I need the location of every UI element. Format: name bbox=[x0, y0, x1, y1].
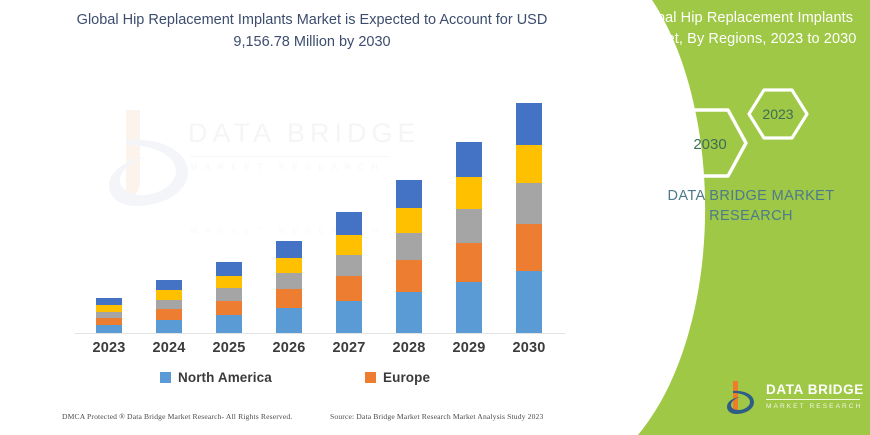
x-axis-line bbox=[75, 333, 565, 334]
bar-segment-2026-2 bbox=[276, 289, 302, 308]
bar-segment-2023-1 bbox=[96, 325, 122, 333]
hexagon-2030-label: 2030 bbox=[693, 136, 726, 153]
x-axis-label-2027: 2027 bbox=[319, 340, 379, 356]
x-axis-label-2028: 2028 bbox=[379, 340, 439, 356]
legend-label: North America bbox=[178, 370, 272, 385]
x-axis-label-2026: 2026 bbox=[259, 340, 319, 356]
logo-divider bbox=[766, 399, 860, 400]
bar-segment-2030-5 bbox=[516, 103, 542, 145]
data-bridge-logo: DATA BRIDGE MARKET RESEARCH bbox=[722, 378, 862, 420]
bar-segment-2029-2 bbox=[456, 243, 482, 283]
infographic-page: Global Hip Replacement Implants Market, … bbox=[0, 0, 870, 435]
bar-segment-2028-4 bbox=[396, 208, 422, 233]
right-panel-title: Global Hip Replacement Implants Market, … bbox=[634, 8, 864, 50]
bar-segment-2025-3 bbox=[216, 288, 242, 301]
bar-segment-2025-5 bbox=[216, 262, 242, 275]
bar-segment-2027-1 bbox=[336, 301, 362, 333]
bar-2027 bbox=[336, 212, 362, 333]
bar-segment-2025-4 bbox=[216, 276, 242, 288]
bar-segment-2026-4 bbox=[276, 258, 302, 273]
bar-segment-2025-2 bbox=[216, 301, 242, 315]
footnote-source: Source: Data Bridge Market Research Mark… bbox=[330, 412, 543, 421]
bar-2029 bbox=[456, 142, 482, 333]
bar-segment-2029-3 bbox=[456, 209, 482, 243]
hexagon-2023-label: 2023 bbox=[762, 106, 793, 122]
legend-item-europe[interactable]: Europe bbox=[365, 370, 430, 385]
legend-swatch-icon bbox=[365, 372, 376, 383]
hexagon-badges: 2023 2030 bbox=[660, 84, 830, 180]
bar-segment-2024-1 bbox=[156, 320, 182, 333]
legend-label: Europe bbox=[383, 370, 430, 385]
data-bridge-logo-mark bbox=[722, 378, 762, 418]
bar-segment-2030-1 bbox=[516, 271, 542, 333]
x-axis-label-2024: 2024 bbox=[139, 340, 199, 356]
bar-segment-2024-5 bbox=[156, 280, 182, 290]
bar-segment-2030-4 bbox=[516, 145, 542, 183]
bar-segment-2028-2 bbox=[396, 260, 422, 292]
data-bridge-logo-text: DATA BRIDGE MARKET RESEARCH bbox=[766, 382, 862, 411]
bar-segment-2029-5 bbox=[456, 142, 482, 177]
bar-2026 bbox=[276, 241, 302, 333]
bar-segment-2025-1 bbox=[216, 315, 242, 333]
legend-swatch-icon bbox=[160, 372, 171, 383]
bar-segment-2027-4 bbox=[336, 235, 362, 255]
x-axis-label-2029: 2029 bbox=[439, 340, 499, 356]
bar-segment-2027-2 bbox=[336, 276, 362, 301]
bar-segment-2026-5 bbox=[276, 241, 302, 258]
bar-segment-2028-5 bbox=[396, 180, 422, 208]
x-axis-label-2023: 2023 bbox=[79, 340, 139, 356]
bar-segment-2028-3 bbox=[396, 233, 422, 260]
right-panel-brand: DATA BRIDGE MARKET RESEARCH bbox=[636, 186, 866, 226]
bar-segment-2027-3 bbox=[336, 255, 362, 276]
bar-2028 bbox=[396, 180, 422, 333]
bar-2030 bbox=[516, 103, 542, 333]
logo-tagline: MARKET RESEARCH bbox=[766, 402, 862, 411]
bar-segment-2030-2 bbox=[516, 224, 542, 272]
logo-name: DATA BRIDGE bbox=[766, 382, 862, 397]
bar-segment-2030-3 bbox=[516, 183, 542, 223]
x-axis-label-2025: 2025 bbox=[199, 340, 259, 356]
footnote-dmca: DMCA Protected ® Data Bridge Market Rese… bbox=[62, 412, 292, 421]
footnotes: DMCA Protected ® Data Bridge Market Rese… bbox=[62, 412, 582, 428]
bar-segment-2026-3 bbox=[276, 273, 302, 290]
legend-item-north-america[interactable]: North America bbox=[160, 370, 272, 385]
chart-legend: North AmericaEurope bbox=[75, 370, 545, 394]
bar-segment-2029-4 bbox=[456, 177, 482, 209]
bar-segment-2023-2 bbox=[96, 318, 122, 325]
bar-segment-2024-2 bbox=[156, 309, 182, 319]
x-axis-label-2030: 2030 bbox=[499, 340, 559, 356]
bar-segment-2024-4 bbox=[156, 290, 182, 300]
page-title: Global Hip Replacement Implants Market i… bbox=[62, 9, 562, 53]
bar-segment-2028-1 bbox=[396, 292, 422, 333]
bar-2024 bbox=[156, 280, 182, 333]
bar-segment-2027-5 bbox=[336, 212, 362, 234]
bar-2025 bbox=[216, 262, 242, 333]
bar-segment-2029-1 bbox=[456, 282, 482, 333]
bar-segment-2024-3 bbox=[156, 300, 182, 310]
x-axis-labels: 20232024202520262027202820292030 bbox=[75, 340, 565, 364]
bar-segment-2026-1 bbox=[276, 308, 302, 333]
bar-segment-2023-5 bbox=[96, 298, 122, 305]
bar-2023 bbox=[96, 298, 122, 333]
bar-chart-plot bbox=[75, 95, 565, 333]
